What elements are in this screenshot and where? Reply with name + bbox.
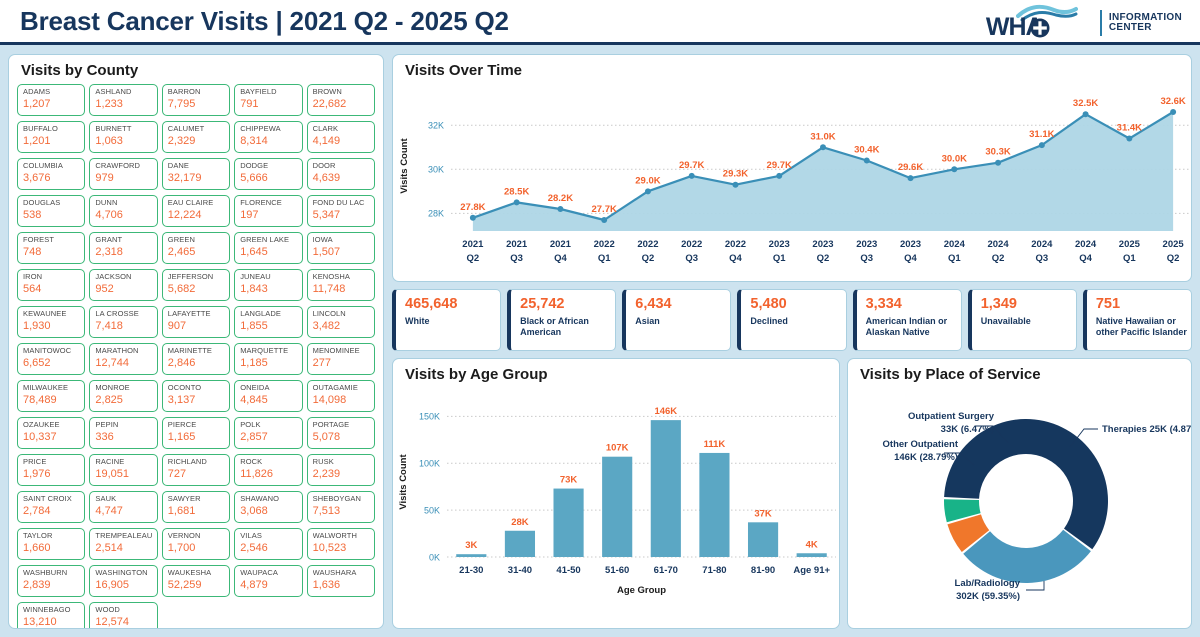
- donut-slice[interactable]: [963, 530, 1091, 583]
- county-card[interactable]: PIERCE1,165: [162, 417, 230, 449]
- logo-subtext: INFORMATION CENTER: [1109, 13, 1182, 34]
- county-card[interactable]: WAUKESHA52,259: [162, 565, 230, 597]
- county-name: LAFAYETTE: [168, 310, 225, 319]
- county-name: OZAUKEE: [23, 421, 80, 430]
- kpi-label: Declined: [750, 316, 845, 327]
- county-card[interactable]: CRAWFORD979: [89, 158, 157, 190]
- county-card[interactable]: FLORENCE197: [234, 195, 302, 227]
- county-name: BROWN: [313, 88, 370, 97]
- data-label: 31.4K: [1117, 122, 1142, 133]
- x-tick-label: 2025: [1119, 239, 1141, 250]
- x-tick-label: 2022: [681, 239, 702, 250]
- county-value: 1,930: [23, 320, 80, 334]
- county-card[interactable]: OZAUKEE10,337: [17, 417, 85, 449]
- county-card[interactable]: LINCOLN3,482: [307, 306, 375, 338]
- data-point[interactable]: [645, 188, 651, 194]
- visits-by-county-title: Visits by County: [9, 55, 383, 79]
- county-card[interactable]: RICHLAND727: [162, 454, 230, 486]
- county-card[interactable]: MENOMINEE277: [307, 343, 375, 375]
- y-axis-title: Visits Count: [399, 138, 410, 194]
- county-value: 10,523: [313, 542, 370, 556]
- county-name: RICHLAND: [168, 458, 225, 467]
- bar[interactable]: [505, 531, 535, 557]
- county-name: LINCOLN: [313, 310, 370, 319]
- county-value: 3,482: [313, 320, 370, 334]
- county-grid: ADAMS1,207ASHLAND1,233BARRON7,795BAYFIEL…: [17, 84, 375, 628]
- county-card[interactable]: POLK2,857: [234, 417, 302, 449]
- county-name: BUFFALO: [23, 125, 80, 134]
- county-value: 7,513: [313, 505, 370, 519]
- county-card[interactable]: DODGE5,666: [234, 158, 302, 190]
- x-tick-label: 71-80: [702, 565, 726, 576]
- label-other-outpatient-name: Other Outpatient: [882, 439, 958, 450]
- county-name: SHAWANO: [240, 495, 297, 504]
- medical-cross-icon: [1030, 18, 1050, 38]
- county-card[interactable]: ONEIDA4,845: [234, 380, 302, 412]
- county-card[interactable]: BARRON7,795: [162, 84, 230, 116]
- county-scroll-container[interactable]: ADAMS1,207ASHLAND1,233BARRON7,795BAYFIEL…: [9, 79, 383, 628]
- county-name: IOWA: [313, 236, 370, 245]
- visits-by-county-panel: Visits by County ADAMS1,207ASHLAND1,233B…: [8, 54, 384, 629]
- x-tick-label: Q4: [729, 253, 742, 264]
- county-card[interactable]: LAFAYETTE907: [162, 306, 230, 338]
- county-value: 2,514: [95, 542, 152, 556]
- county-value: 564: [23, 283, 80, 297]
- county-card[interactable]: SHEBOYGAN7,513: [307, 491, 375, 523]
- page-title: Breast Cancer Visits | 2021 Q2 - 2025 Q2: [20, 6, 509, 37]
- county-card[interactable]: JEFFERSON5,682: [162, 269, 230, 301]
- line-chart-svg[interactable]: Visits Count28K30K32K27.8K2021Q228.5K202…: [393, 77, 1192, 277]
- county-value: 1,855: [240, 320, 297, 334]
- data-label: 30.0K: [942, 153, 967, 164]
- y-axis-title: Visits Count: [398, 454, 409, 510]
- data-label: 31.1K: [1029, 129, 1054, 140]
- county-name: SAWYER: [168, 495, 225, 504]
- bar-data-label: 37K: [754, 508, 772, 519]
- logo-divider: [1100, 10, 1102, 36]
- county-value: 3,676: [23, 172, 80, 186]
- county-value: 11,748: [313, 283, 370, 297]
- county-value: 2,784: [23, 505, 80, 519]
- kpi-card[interactable]: 6,434Asian: [622, 289, 731, 351]
- data-point[interactable]: [514, 199, 520, 205]
- data-point[interactable]: [776, 173, 782, 179]
- x-tick-label: Q1: [598, 253, 611, 264]
- county-name: OUTAGAMIE: [313, 384, 370, 393]
- label-lab-radiology-name: Lab/Radiology: [955, 578, 1021, 589]
- county-name: KEWAUNEE: [23, 310, 80, 319]
- bar-data-label: 3K: [465, 540, 477, 551]
- county-value: 727: [168, 468, 225, 482]
- county-name: FOND DU LAC: [313, 199, 370, 208]
- county-value: 1,976: [23, 468, 80, 482]
- county-card[interactable]: DOOR4,639: [307, 158, 375, 190]
- county-card[interactable]: JUNEAU1,843: [234, 269, 302, 301]
- bar[interactable]: [651, 420, 681, 557]
- visits-by-age-group-title: Visits by Age Group: [393, 359, 839, 383]
- county-card[interactable]: OCONTO3,137: [162, 380, 230, 412]
- visits-over-time-chart: Visits Count28K30K32K27.8K2021Q228.5K202…: [393, 77, 1187, 279]
- county-card[interactable]: WINNEBAGO13,210: [17, 602, 85, 628]
- kpi-value: 751: [1096, 297, 1191, 313]
- x-tick-label: 2024: [1075, 239, 1097, 250]
- county-card[interactable]: SAUK4,747: [89, 491, 157, 523]
- data-point[interactable]: [1039, 142, 1045, 148]
- county-card[interactable]: FOND DU LAC5,347: [307, 195, 375, 227]
- county-card[interactable]: BROWN22,682: [307, 84, 375, 116]
- x-tick-label: 2025: [1163, 239, 1185, 250]
- county-value: 8,314: [240, 135, 297, 149]
- bar[interactable]: [553, 489, 583, 557]
- county-card[interactable]: VILAS2,546: [234, 528, 302, 560]
- county-name: RACINE: [95, 458, 152, 467]
- x-tick-label: Q4: [904, 253, 917, 264]
- county-value: 907: [168, 320, 225, 334]
- kpi-value: 25,742: [520, 297, 615, 313]
- county-card[interactable]: WASHINGTON16,905: [89, 565, 157, 597]
- kpi-card[interactable]: 465,648White: [392, 289, 501, 351]
- visits-by-place-of-service-title: Visits by Place of Service: [848, 359, 1191, 383]
- county-name: COLUMBIA: [23, 162, 80, 171]
- data-point[interactable]: [601, 217, 607, 223]
- data-point[interactable]: [1083, 111, 1089, 117]
- county-card[interactable]: WALWORTH10,523: [307, 528, 375, 560]
- race-kpi-row: 465,648White25,742Black or African Ameri…: [392, 289, 1192, 351]
- y-tick-label: 100K: [419, 459, 440, 469]
- x-tick-label: Q2: [992, 253, 1005, 264]
- county-value: 16,905: [95, 579, 152, 593]
- county-card[interactable]: WAUPACA4,879: [234, 565, 302, 597]
- county-card[interactable]: PEPIN336: [89, 417, 157, 449]
- logo-subtext-line2: CENTER: [1109, 23, 1182, 34]
- kpi-label: Unavailable: [981, 316, 1076, 327]
- county-value: 277: [313, 357, 370, 371]
- county-name: SAINT CROIX: [23, 495, 80, 504]
- county-card[interactable]: MARINETTE2,846: [162, 343, 230, 375]
- county-value: 1,233: [95, 98, 152, 112]
- county-card[interactable]: IOWA1,507: [307, 232, 375, 264]
- data-point[interactable]: [995, 160, 1001, 166]
- county-card[interactable]: LA CROSSE7,418: [89, 306, 157, 338]
- county-value: 2,825: [95, 394, 152, 408]
- data-label: 28.5K: [504, 186, 529, 197]
- kpi-value: 3,334: [866, 297, 961, 313]
- county-name: GRANT: [95, 236, 152, 245]
- county-name: WALWORTH: [313, 532, 370, 541]
- y-tick-label: 28K: [428, 209, 444, 219]
- county-name: LA CROSSE: [95, 310, 152, 319]
- data-point[interactable]: [951, 166, 957, 172]
- x-tick-label: 2023: [812, 239, 833, 250]
- bar-chart-svg[interactable]: Visits Count0K50K100K150K3K21-3028K31-40…: [393, 381, 840, 605]
- label-other-outpatient-value: 146K (28.79%): [894, 452, 958, 463]
- county-value: 979: [95, 172, 152, 186]
- bar[interactable]: [797, 553, 827, 557]
- county-value: 1,165: [168, 431, 225, 445]
- county-value: 14,098: [313, 394, 370, 408]
- county-name: FLORENCE: [240, 199, 297, 208]
- data-point[interactable]: [1170, 109, 1176, 115]
- bar-data-label: 73K: [560, 475, 578, 486]
- x-tick-label: Age 91+: [793, 565, 830, 576]
- data-label: 28.2K: [548, 193, 573, 204]
- county-name: VILAS: [240, 532, 297, 541]
- x-tick-label: 2022: [637, 239, 658, 250]
- county-card[interactable]: OUTAGAMIE14,098: [307, 380, 375, 412]
- county-card[interactable]: MILWAUKEE78,489: [17, 380, 85, 412]
- kpi-value: 6,434: [635, 297, 730, 313]
- county-value: 12,744: [95, 357, 152, 371]
- county-name: ROCK: [240, 458, 297, 467]
- bar[interactable]: [456, 554, 486, 557]
- county-name: CLARK: [313, 125, 370, 134]
- x-tick-label: 2024: [944, 239, 966, 250]
- x-tick-label: 2021: [462, 239, 484, 250]
- county-card[interactable]: RUSK2,239: [307, 454, 375, 486]
- x-tick-label: 2023: [769, 239, 790, 250]
- county-name: CRAWFORD: [95, 162, 152, 171]
- county-value: 10,337: [23, 431, 80, 445]
- kpi-card[interactable]: 3,334American Indian or Alaskan Native: [853, 289, 962, 351]
- kpi-label: American Indian or Alaskan Native: [866, 316, 961, 338]
- x-tick-label: Q2: [817, 253, 830, 264]
- y-tick-label: 32K: [428, 121, 444, 131]
- x-tick-label: Q3: [510, 253, 523, 264]
- label-lab-radiology-value: 302K (59.35%): [956, 591, 1020, 602]
- kpi-card[interactable]: 5,480Declined: [737, 289, 846, 351]
- county-card[interactable]: CHIPPEWA8,314: [234, 121, 302, 153]
- data-label: 29.3K: [723, 169, 748, 180]
- county-value: 791: [240, 98, 297, 112]
- x-tick-label: 21-30: [459, 565, 483, 576]
- county-name: TAYLOR: [23, 532, 80, 541]
- county-card[interactable]: WASHBURN2,839: [17, 565, 85, 597]
- county-value: 2,329: [168, 135, 225, 149]
- county-card[interactable]: ASHLAND1,233: [89, 84, 157, 116]
- county-value: 5,078: [313, 431, 370, 445]
- county-card[interactable]: MARATHON12,744: [89, 343, 157, 375]
- county-card[interactable]: SAINT CROIX2,784: [17, 491, 85, 523]
- bar[interactable]: [602, 457, 632, 557]
- county-name: FOREST: [23, 236, 80, 245]
- county-value: 3,068: [240, 505, 297, 519]
- county-card[interactable]: JACKSON952: [89, 269, 157, 301]
- county-card[interactable]: MANITOWOC6,652: [17, 343, 85, 375]
- county-card[interactable]: LANGLADE1,855: [234, 306, 302, 338]
- x-tick-label: Q1: [948, 253, 961, 264]
- x-tick-label: 2021: [550, 239, 572, 250]
- county-card[interactable]: KEWAUNEE1,930: [17, 306, 85, 338]
- data-point[interactable]: [1126, 135, 1132, 141]
- county-name: MANITOWOC: [23, 347, 80, 356]
- data-point[interactable]: [732, 182, 738, 188]
- county-value: 3,137: [168, 394, 225, 408]
- county-value: 32,179: [168, 172, 225, 186]
- county-value: 4,639: [313, 172, 370, 186]
- county-value: 13,210: [23, 616, 80, 628]
- county-card[interactable]: IRON564: [17, 269, 85, 301]
- county-card[interactable]: CLARK4,149: [307, 121, 375, 153]
- dashboard-root: Breast Cancer Visits | 2021 Q2 - 2025 Q2…: [0, 0, 1200, 637]
- county-value: 78,489: [23, 394, 80, 408]
- county-card[interactable]: ROCK11,826: [234, 454, 302, 486]
- bottom-charts-row: Visits by Age Group Visits Count0K50K100…: [392, 358, 1192, 629]
- county-value: 2,318: [95, 246, 152, 260]
- county-value: 4,149: [313, 135, 370, 149]
- county-value: 1,700: [168, 542, 225, 556]
- county-card[interactable]: MONROE2,825: [89, 380, 157, 412]
- county-card[interactable]: BAYFIELD791: [234, 84, 302, 116]
- y-tick-label: 50K: [424, 505, 440, 515]
- x-tick-label: 61-70: [654, 565, 678, 576]
- county-card[interactable]: ADAMS1,207: [17, 84, 85, 116]
- x-tick-label: 51-60: [605, 565, 629, 576]
- y-tick-label: 150K: [419, 412, 440, 422]
- county-name: JEFFERSON: [168, 273, 225, 282]
- county-value: 5,682: [168, 283, 225, 297]
- data-point[interactable]: [557, 206, 563, 212]
- county-card[interactable]: BUFFALO1,201: [17, 121, 85, 153]
- kpi-card[interactable]: 751Native Hawaiian or other Pacific Isla…: [1083, 289, 1192, 351]
- county-value: 4,845: [240, 394, 297, 408]
- data-label: 27.8K: [460, 202, 485, 213]
- label-therapies: Therapies 25K (4.87%): [1102, 424, 1192, 435]
- county-name: VERNON: [168, 532, 225, 541]
- county-card[interactable]: PRICE1,976: [17, 454, 85, 486]
- county-name: DUNN: [95, 199, 152, 208]
- county-value: 11,826: [240, 468, 297, 482]
- bar[interactable]: [699, 453, 729, 557]
- data-label: 30.3K: [985, 147, 1010, 158]
- county-name: WASHBURN: [23, 569, 80, 578]
- county-name: MARINETTE: [168, 347, 225, 356]
- data-point[interactable]: [820, 144, 826, 150]
- county-name: KENOSHA: [313, 273, 370, 282]
- x-tick-label: Q1: [773, 253, 786, 264]
- county-value: 2,465: [168, 246, 225, 260]
- county-name: MENOMINEE: [313, 347, 370, 356]
- county-value: 52,259: [168, 579, 225, 593]
- x-tick-label: 2024: [987, 239, 1009, 250]
- county-value: 12,574: [95, 616, 152, 628]
- county-value: 1,201: [23, 135, 80, 149]
- data-point[interactable]: [908, 175, 914, 181]
- county-name: BAYFIELD: [240, 88, 297, 97]
- county-card[interactable]: PORTAGE5,078: [307, 417, 375, 449]
- label-outpatient-surgery-name: Outpatient Surgery: [908, 411, 995, 422]
- data-label: 31.0K: [810, 131, 835, 142]
- county-value: 2,846: [168, 357, 225, 371]
- county-card[interactable]: KENOSHA11,748: [307, 269, 375, 301]
- county-name: LANGLADE: [240, 310, 297, 319]
- wha-logo: WHA INFORMATION CENTER: [986, 3, 1182, 43]
- county-card[interactable]: WOOD12,574: [89, 602, 157, 628]
- county-card[interactable]: GREEN LAKE1,645: [234, 232, 302, 264]
- data-point[interactable]: [470, 215, 476, 221]
- county-name: PEPIN: [95, 421, 152, 430]
- county-card[interactable]: MARQUETTE1,185: [234, 343, 302, 375]
- county-card[interactable]: CALUMET2,329: [162, 121, 230, 153]
- county-name: DOOR: [313, 162, 370, 171]
- county-name: CHIPPEWA: [240, 125, 297, 134]
- county-card[interactable]: SAWYER1,681: [162, 491, 230, 523]
- county-card[interactable]: FOREST748: [17, 232, 85, 264]
- county-card[interactable]: VERNON1,700: [162, 528, 230, 560]
- county-value: 1,207: [23, 98, 80, 112]
- visits-by-place-of-service-panel: Visits by Place of Service Outpatient Su…: [847, 358, 1192, 629]
- county-name: WAUSHARA: [313, 569, 370, 578]
- x-tick-label: Q2: [467, 253, 480, 264]
- x-tick-label: Q3: [685, 253, 698, 264]
- county-card[interactable]: DANE32,179: [162, 158, 230, 190]
- county-value: 1,063: [95, 135, 152, 149]
- county-card[interactable]: SHAWANO3,068: [234, 491, 302, 523]
- bar[interactable]: [748, 522, 778, 557]
- county-card[interactable]: RACINE19,051: [89, 454, 157, 486]
- county-name: WAUKESHA: [168, 569, 225, 578]
- county-name: PIERCE: [168, 421, 225, 430]
- county-card[interactable]: TAYLOR1,660: [17, 528, 85, 560]
- county-value: 1,843: [240, 283, 297, 297]
- kpi-card[interactable]: 1,349Unavailable: [968, 289, 1077, 351]
- county-name: IRON: [23, 273, 80, 282]
- county-value: 2,839: [23, 579, 80, 593]
- county-card[interactable]: COLUMBIA3,676: [17, 158, 85, 190]
- county-card[interactable]: GRANT2,318: [89, 232, 157, 264]
- county-name: JUNEAU: [240, 273, 297, 282]
- county-value: 19,051: [95, 468, 152, 482]
- county-name: MILWAUKEE: [23, 384, 80, 393]
- x-tick-label: Q4: [554, 253, 567, 264]
- x-tick-label: Q2: [642, 253, 655, 264]
- county-value: 6,652: [23, 357, 80, 371]
- kpi-card[interactable]: 25,742Black or African American: [507, 289, 616, 351]
- county-card[interactable]: GREEN2,465: [162, 232, 230, 264]
- x-tick-label: 41-50: [556, 565, 580, 576]
- bar-data-label: 4K: [806, 539, 818, 550]
- county-value: 2,857: [240, 431, 297, 445]
- data-label: 32.6K: [1160, 96, 1185, 107]
- county-name: OCONTO: [168, 384, 225, 393]
- county-value: 1,507: [313, 246, 370, 260]
- county-card[interactable]: DUNN4,706: [89, 195, 157, 227]
- county-name: DANE: [168, 162, 225, 171]
- county-name: PORTAGE: [313, 421, 370, 430]
- donut-chart-svg[interactable]: Outpatient Surgery33K (6.47%)Therapies 2…: [848, 381, 1192, 607]
- dashboard-header: Breast Cancer Visits | 2021 Q2 - 2025 Q2…: [0, 0, 1200, 45]
- county-card[interactable]: BURNETT1,063: [89, 121, 157, 153]
- county-name: MONROE: [95, 384, 152, 393]
- county-value: 7,795: [168, 98, 225, 112]
- county-card[interactable]: DOUGLAS538: [17, 195, 85, 227]
- kpi-value: 5,480: [750, 297, 845, 313]
- county-card[interactable]: EAU CLAIRE12,224: [162, 195, 230, 227]
- county-value: 5,347: [313, 209, 370, 223]
- kpi-label: Asian: [635, 316, 730, 327]
- county-value: 2,239: [313, 468, 370, 482]
- data-point[interactable]: [689, 173, 695, 179]
- x-tick-label: 2022: [725, 239, 746, 250]
- kpi-label: White: [405, 316, 500, 327]
- county-name: MARQUETTE: [240, 347, 297, 356]
- county-name: ADAMS: [23, 88, 80, 97]
- data-point[interactable]: [864, 157, 870, 163]
- county-name: GREEN: [168, 236, 225, 245]
- county-value: 197: [240, 209, 297, 223]
- county-card[interactable]: WAUSHARA1,636: [307, 565, 375, 597]
- county-value: 1,660: [23, 542, 80, 556]
- county-card[interactable]: TREMPEALEAU2,514: [89, 528, 157, 560]
